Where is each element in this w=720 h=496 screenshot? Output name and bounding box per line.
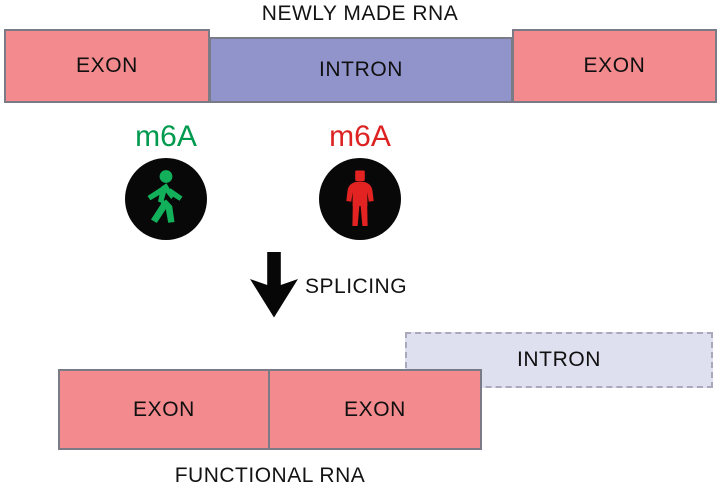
pedestrian-walk-icon: [125, 158, 207, 240]
m6a-label-intron: m6A: [300, 120, 420, 154]
splicing-arrow: [245, 252, 303, 323]
premrna-exon-right-label: EXON: [584, 54, 646, 78]
premrna-exon-left: EXON: [4, 29, 210, 103]
pedestrian-walk-glyph: [125, 158, 207, 240]
premrna-exon-left-label: EXON: [76, 54, 138, 78]
splicing-label: SPLICING: [305, 275, 485, 299]
mature-exon-right-label: EXON: [344, 398, 406, 422]
mature-exon-left: EXON: [58, 369, 270, 450]
m6a-label-exon: m6A: [106, 120, 226, 154]
down-arrow-icon: [245, 252, 303, 318]
pedestrian-stand-glyph: [319, 158, 401, 240]
premrna-intron-label: INTRON: [319, 58, 403, 82]
premrna-intron: INTRON: [209, 37, 513, 103]
pedestrian-stand-icon: [319, 158, 401, 240]
top-caption: NEWLY MADE RNA: [0, 2, 720, 26]
figure-canvas: NEWLY MADE RNA EXON INTRON EXON m6A: [0, 0, 720, 496]
mature-exon-left-label: EXON: [133, 398, 195, 422]
mature-exon-right: EXON: [268, 369, 482, 450]
bottom-caption: FUNCTIONAL RNA: [60, 464, 480, 488]
removed-intron-label: INTRON: [517, 348, 601, 372]
premrna-exon-right: EXON: [512, 29, 717, 103]
